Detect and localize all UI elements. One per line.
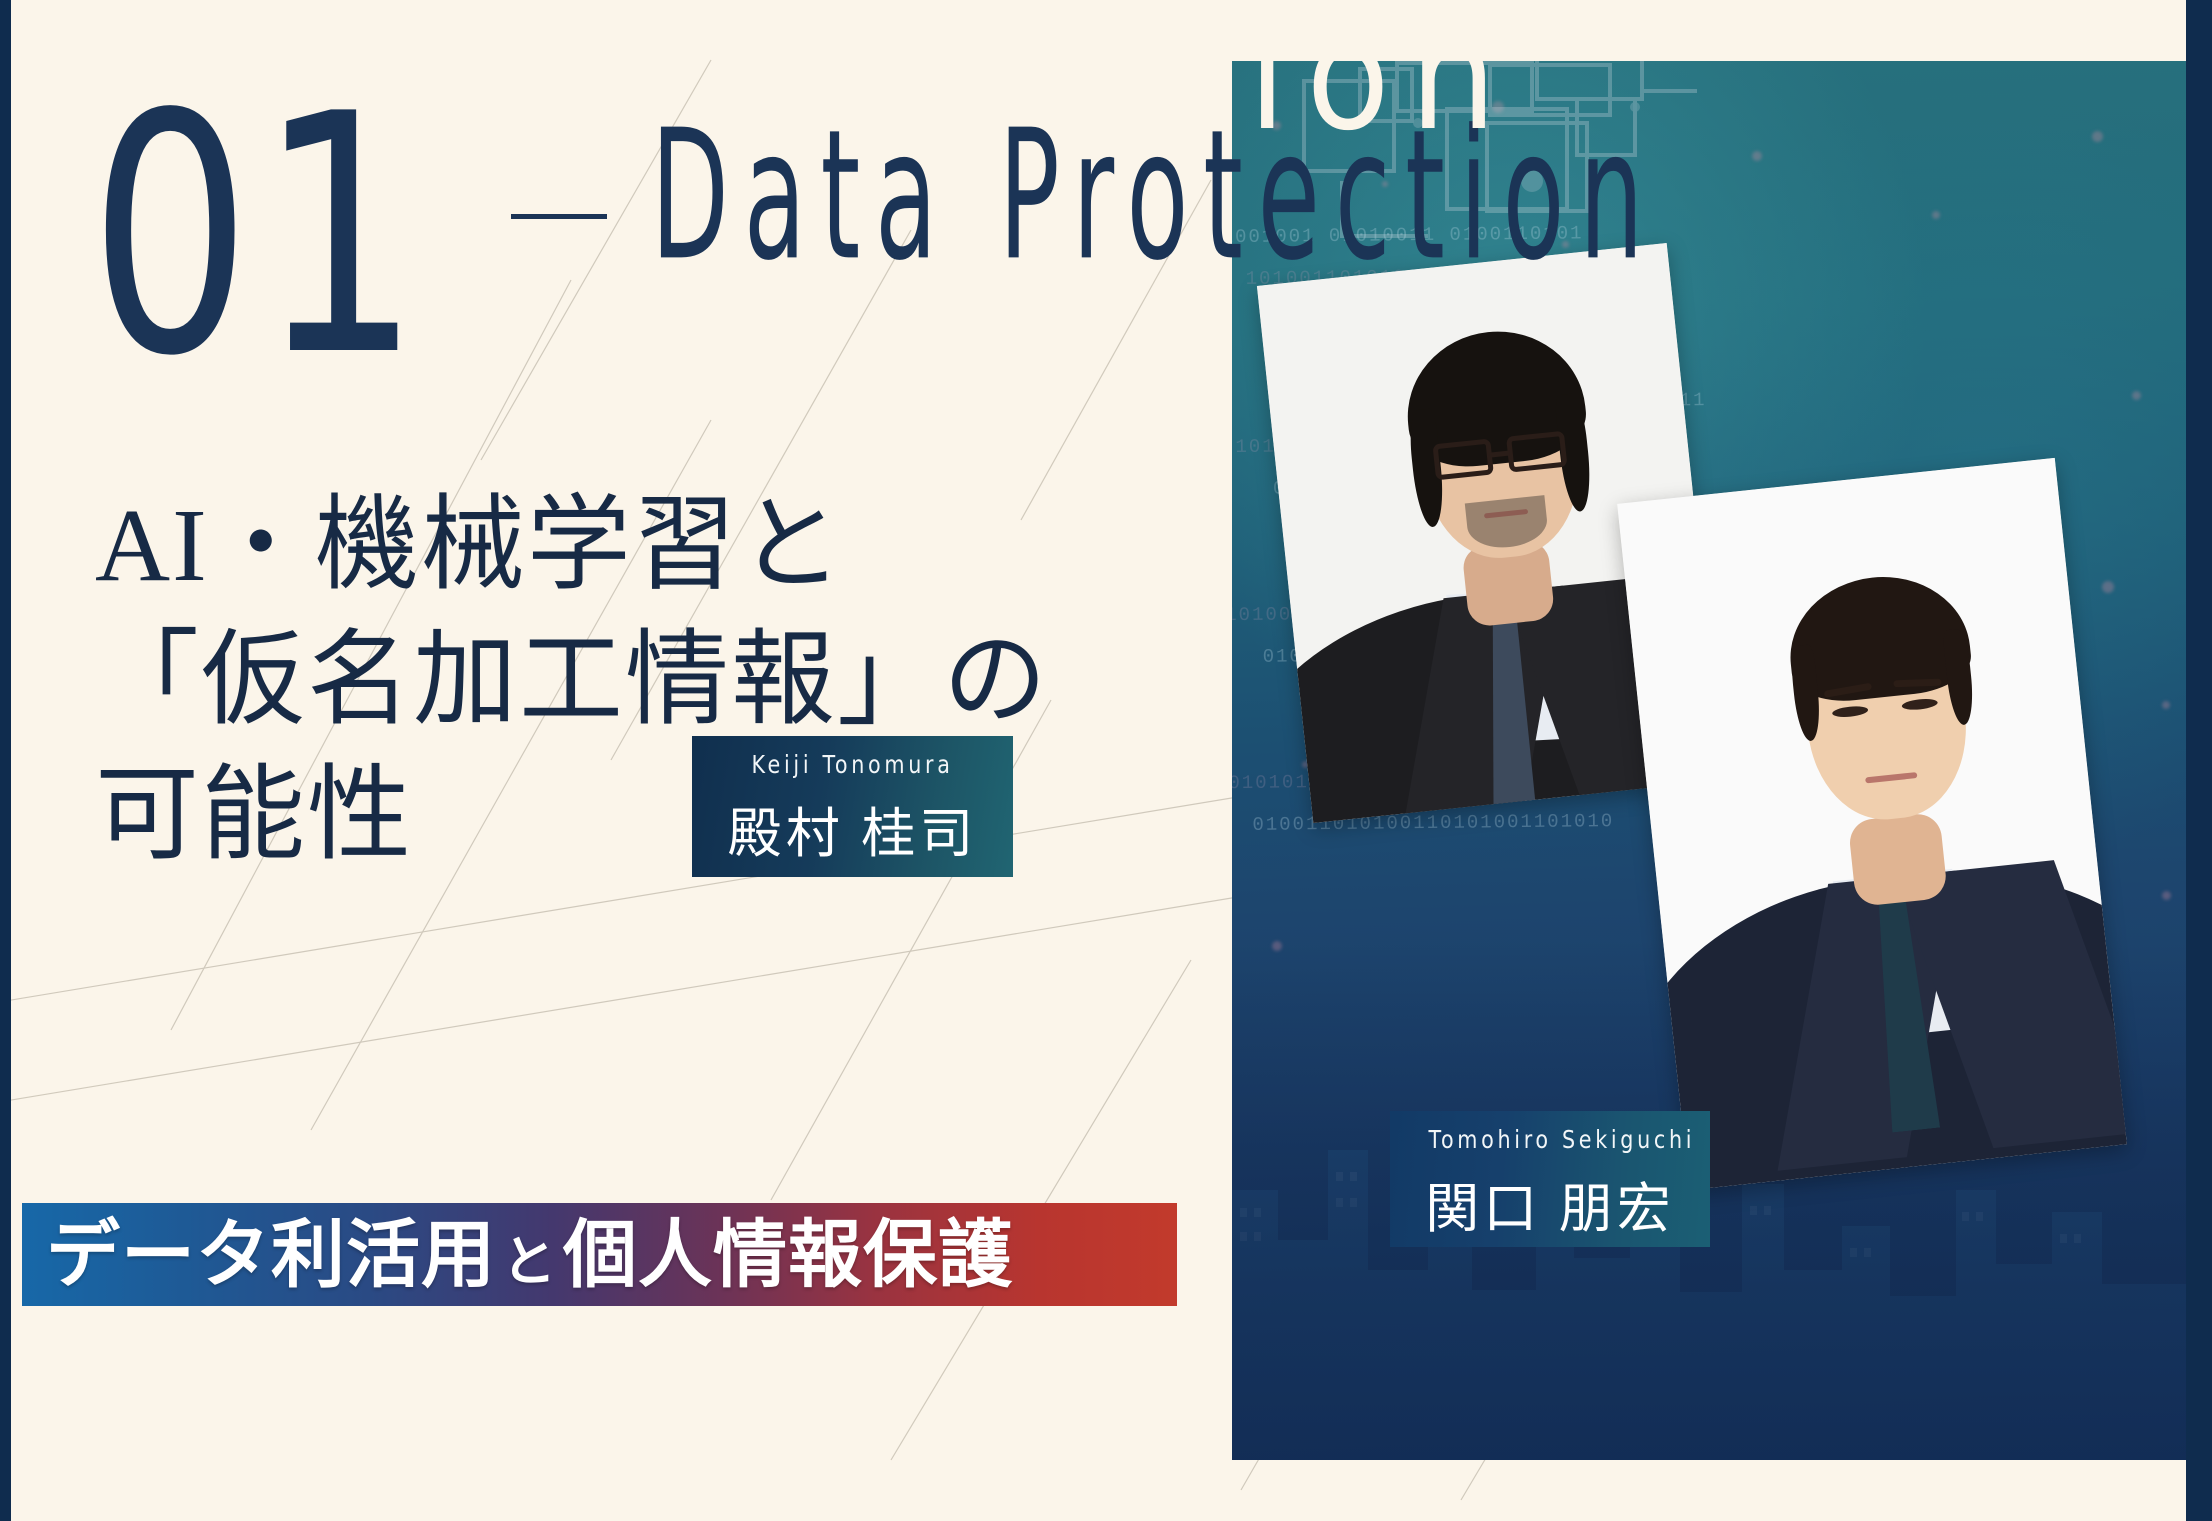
poster-canvas: 01001001 01010011 0100110101101001101010… [11, 0, 2186, 1521]
nameplate-japanese-name-2: 関口 朋宏 [1418, 1164, 1682, 1243]
nameplate-layer: Keiji Tonomura 殿村 桂司 Tomohiro Sekiguchi … [11, 0, 2186, 1521]
nameplate-tomohiro-sekiguchi: Tomohiro Sekiguchi 関口 朋宏 [1390, 1111, 1710, 1247]
nameplate-roman-name-1: Keiji Tonomura [731, 750, 975, 779]
nameplate-keiji-tonomura: Keiji Tonomura 殿村 桂司 [692, 736, 1013, 877]
poster-root: 01001001 01010011 0100110101101001101010… [0, 0, 2212, 1521]
nameplate-japanese-name-1: 殿村 桂司 [720, 789, 985, 868]
nameplate-roman-name-2: Tomohiro Sekiguchi [1429, 1125, 1672, 1154]
